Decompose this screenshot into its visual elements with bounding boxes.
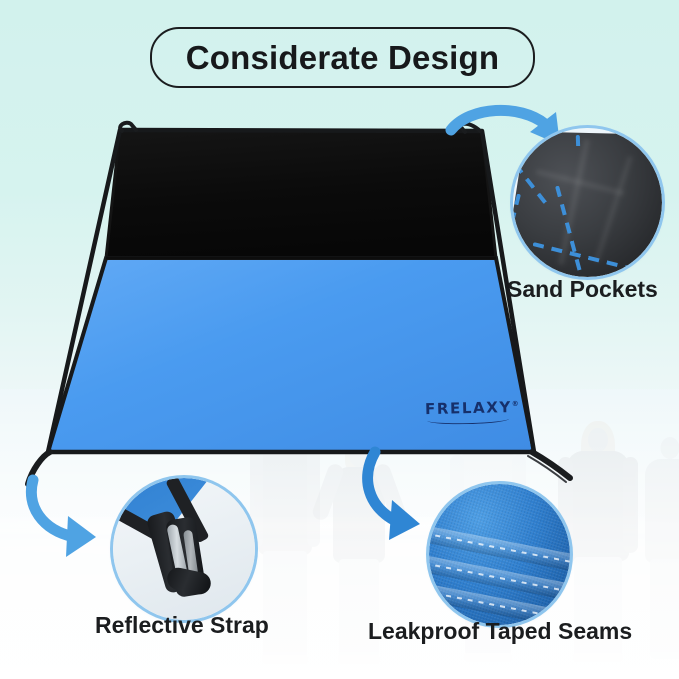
person-torso (645, 459, 679, 563)
sand-pockets-photo (513, 128, 662, 277)
person-torso (333, 467, 385, 563)
blanket-corner-tab-top-left (120, 123, 136, 131)
person-arm (311, 462, 346, 522)
sand-pockets-detail-circle (513, 128, 662, 277)
person-head (661, 437, 679, 459)
person-head (275, 421, 295, 445)
product-feature-image: Considerate Design (0, 0, 679, 679)
blanket-corner-tab-bottom-left (28, 452, 50, 484)
person-arm (373, 462, 408, 522)
person-head (478, 427, 498, 450)
person-arm (307, 449, 320, 547)
arrow-to-taped-seams (368, 452, 420, 540)
person-hair (475, 423, 501, 453)
reflective-strap-detail-circle (113, 478, 255, 620)
page-title-box: Considerate Design (150, 27, 535, 88)
person-hair (345, 439, 373, 473)
person-legs (650, 559, 679, 659)
person-arm (623, 457, 638, 553)
brand-logo: FRELAXY® (425, 398, 521, 418)
person-legs (574, 557, 622, 661)
surf-line (0, 539, 679, 557)
person-legs (263, 551, 307, 659)
pocket-stitching (576, 135, 580, 149)
page-title: Considerate Design (186, 39, 500, 77)
arrow-to-reflective-strap (31, 480, 96, 557)
taped-seams-detail-circle (429, 484, 570, 625)
person-hair (581, 421, 615, 473)
sea-band (0, 389, 679, 539)
reflective-strap-label: Reflective Strap (95, 612, 269, 639)
sand-band (0, 529, 679, 679)
blanket-top-panel (106, 130, 496, 258)
person-torso (567, 451, 629, 561)
surf-line (0, 517, 679, 535)
sand-pockets-label: Sand Pockets (507, 276, 658, 303)
person-shoes (338, 655, 380, 664)
reflective-strap-photo (113, 478, 255, 620)
brand-registered-mark: ® (512, 400, 521, 408)
taped-seams-photo (429, 484, 570, 625)
blanket-corner-tab-bottom-right (532, 452, 570, 478)
person-torso (258, 443, 312, 555)
blanket-corner-tab-bottom-right-inner (528, 456, 566, 482)
blanket-corner-tab-top-right (460, 124, 480, 132)
person-shoes (573, 653, 623, 662)
person-shoes (464, 653, 512, 662)
person-head (350, 445, 369, 467)
person-shoes (262, 655, 308, 664)
person-head (588, 428, 608, 452)
taped-seams-label: Leakproof Taped Seams (368, 618, 632, 645)
beach-person (640, 433, 679, 669)
blanket-illustration (0, 0, 679, 679)
